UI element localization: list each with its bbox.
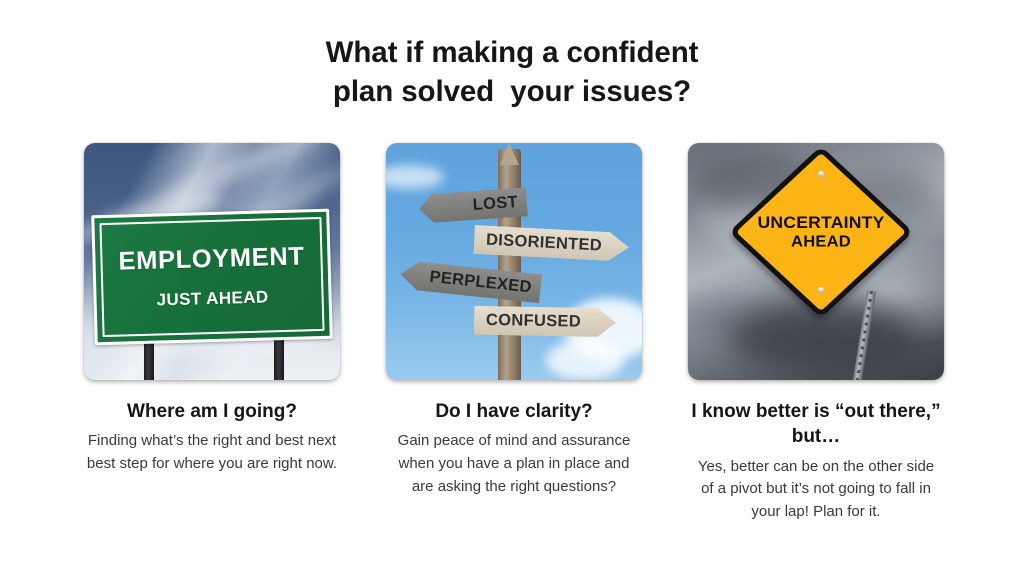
- sign-line-1: EMPLOYMENT: [118, 244, 305, 275]
- page-title: What if making a confident plan solved y…: [0, 33, 1024, 111]
- caption-body: Yes, better can be on the other side of …: [690, 456, 942, 524]
- warning-sign-text: UNCERTAINTY AHEAD: [761, 176, 881, 288]
- direction-sign-confused: CONFUSED: [474, 306, 616, 337]
- columns-row: EMPLOYMENT JUST AHEAD Where am I going? …: [84, 143, 944, 524]
- sign-line-2: JUST AHEAD: [156, 289, 268, 309]
- image-card-uncertainty-sign: UNCERTAINTY AHEAD: [688, 143, 944, 380]
- caption-heading: Where am I going?: [84, 399, 340, 424]
- caption-heading: Do I have clarity?: [386, 399, 642, 424]
- column-where-am-i-going: EMPLOYMENT JUST AHEAD Where am I going? …: [84, 143, 340, 476]
- caption-body: Gain peace of mind and assurance when yo…: [386, 430, 642, 498]
- cloud-icon: [546, 340, 624, 380]
- column-i-know-better-is-out-there: UNCERTAINTY AHEAD I know better is “out …: [688, 143, 944, 524]
- slide: What if making a confident plan solved y…: [0, 0, 1024, 576]
- signpost-illustration: LOST DISORIENTED PERPLEXED CONFUSED: [386, 143, 642, 380]
- sign-line-2: AHEAD: [791, 233, 851, 250]
- column-do-i-have-clarity: LOST DISORIENTED PERPLEXED CONFUSED Do I…: [386, 143, 642, 499]
- uncertainty-sign-illustration: UNCERTAINTY AHEAD: [688, 143, 944, 380]
- wooden-post: [498, 149, 521, 380]
- caption-body: Finding what’s the right and best next b…: [84, 430, 340, 476]
- image-card-signpost: LOST DISORIENTED PERPLEXED CONFUSED: [386, 143, 642, 380]
- green-highway-sign: EMPLOYMENT JUST AHEAD: [91, 209, 333, 346]
- image-card-employment-sign: EMPLOYMENT JUST AHEAD: [84, 143, 340, 380]
- sign-line-1: UNCERTAINTY: [757, 213, 884, 232]
- employment-sign-illustration: EMPLOYMENT JUST AHEAD: [84, 143, 340, 380]
- caption-heading: I know better is “out there,” but…: [688, 399, 944, 450]
